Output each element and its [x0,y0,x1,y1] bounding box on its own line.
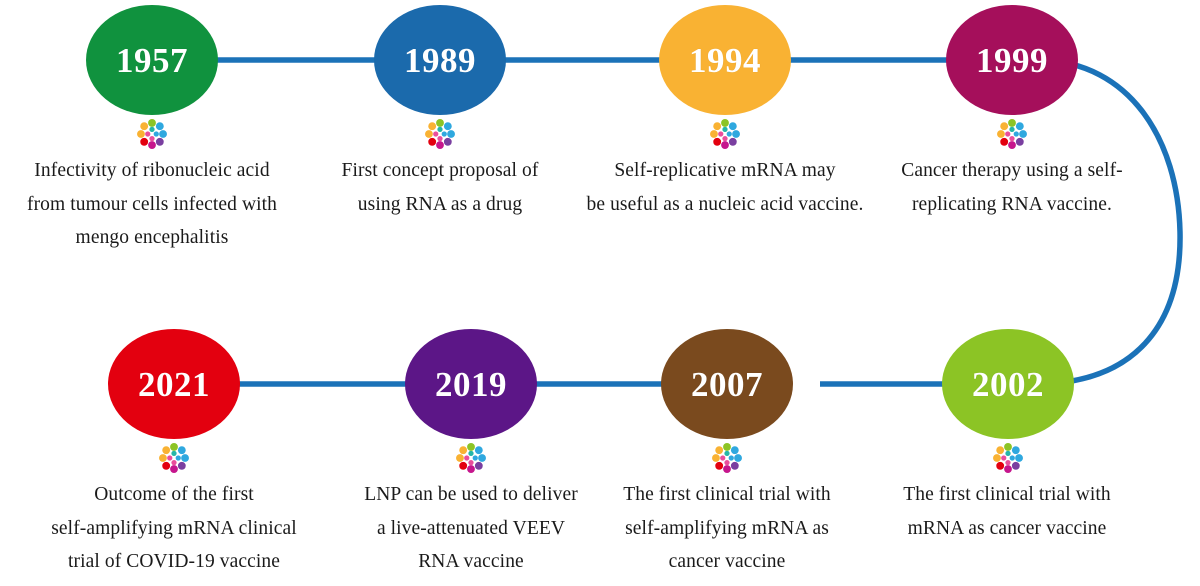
caption-line: RNA vaccine [321,545,621,579]
milestone-1957[interactable]: 1957 Infectivity of ribonucleic acid fro… [78,5,226,255]
caption-line: The first clinical trial with [577,478,877,512]
milestone-caption: The first clinical trial with mRNA as ca… [872,478,1142,545]
year-label: 2002 [972,367,1044,402]
caption-line: a live-attenuated VEEV [321,512,621,546]
year-bubble-2021[interactable]: 2021 [108,329,240,439]
milestone-caption: Cancer therapy using a self- replicating… [882,154,1142,221]
colorful-flower-icon [157,441,191,475]
caption-line: from tumour cells infected with [2,188,302,222]
caption-line: self-amplifying mRNA as [577,512,877,546]
year-bubble-2007[interactable]: 2007 [661,329,793,439]
caption-line: mRNA as cancer vaccine [872,512,1142,546]
year-bubble-1999[interactable]: 1999 [946,5,1078,115]
caption-line: Self-replicative mRNA may [575,154,875,188]
year-bubble-1989[interactable]: 1989 [374,5,506,115]
milestone-2021[interactable]: 2021 Outcome of the first self-amplifyin… [100,329,248,579]
colorful-flower-icon [710,441,744,475]
caption-line: replicating RNA vaccine. [882,188,1142,222]
caption-line: cancer vaccine [577,545,877,579]
year-bubble-1994[interactable]: 1994 [659,5,791,115]
milestone-2019[interactable]: 2019 LNP can be used to deliver a live-a… [397,329,545,579]
caption-line: mengo encephalitis [2,221,302,255]
caption-line: First concept proposal of [290,154,590,188]
milestone-caption: Infectivity of ribonucleic acid from tum… [2,154,302,255]
year-bubble-1957[interactable]: 1957 [86,5,218,115]
colorful-flower-icon [135,117,169,151]
caption-line: LNP can be used to deliver [321,478,621,512]
colorful-flower-icon [454,441,488,475]
milestone-caption: First concept proposal of using RNA as a… [290,154,590,221]
year-label: 1994 [689,43,761,78]
caption-line: using RNA as a drug [290,188,590,222]
milestone-1989[interactable]: 1989 First concept proposal of using RNA… [366,5,514,221]
caption-line: Infectivity of ribonucleic acid [2,154,302,188]
colorful-flower-icon [995,117,1029,151]
milestone-2002[interactable]: 2002 The first clinical trial with mRNA … [934,329,1082,545]
year-bubble-2002[interactable]: 2002 [942,329,1074,439]
milestone-caption: Outcome of the first self-amplifying mRN… [24,478,324,579]
year-label: 1989 [404,43,476,78]
caption-line: be useful as a nucleic acid vaccine. [575,188,875,222]
milestone-caption: The first clinical trial with self-ampli… [577,478,877,579]
year-label: 1999 [976,43,1048,78]
milestone-1994[interactable]: 1994 Self-replicative mRNA may be useful… [651,5,799,221]
year-label: 2007 [691,367,763,402]
year-label: 1957 [116,43,188,78]
colorful-flower-icon [423,117,457,151]
milestone-caption: Self-replicative mRNA may be useful as a… [575,154,875,221]
caption-line: Cancer therapy using a self- [882,154,1142,188]
colorful-flower-icon [991,441,1025,475]
caption-line: self-amplifying mRNA clinical [24,512,324,546]
caption-line: The first clinical trial with [872,478,1142,512]
caption-line: Outcome of the first [24,478,324,512]
milestone-1999[interactable]: 1999 Cancer therapy using a self- replic… [938,5,1086,221]
milestone-2007[interactable]: 2007 The first clinical trial with self-… [653,329,801,579]
year-label: 2021 [138,367,210,402]
milestone-caption: LNP can be used to deliver a live-attenu… [321,478,621,579]
year-label: 2019 [435,367,507,402]
year-bubble-2019[interactable]: 2019 [405,329,537,439]
caption-line: trial of COVID-19 vaccine [24,545,324,579]
timeline-diagram: 1957 Infectivity of ribonucleic acid fro… [0,0,1200,586]
colorful-flower-icon [708,117,742,151]
